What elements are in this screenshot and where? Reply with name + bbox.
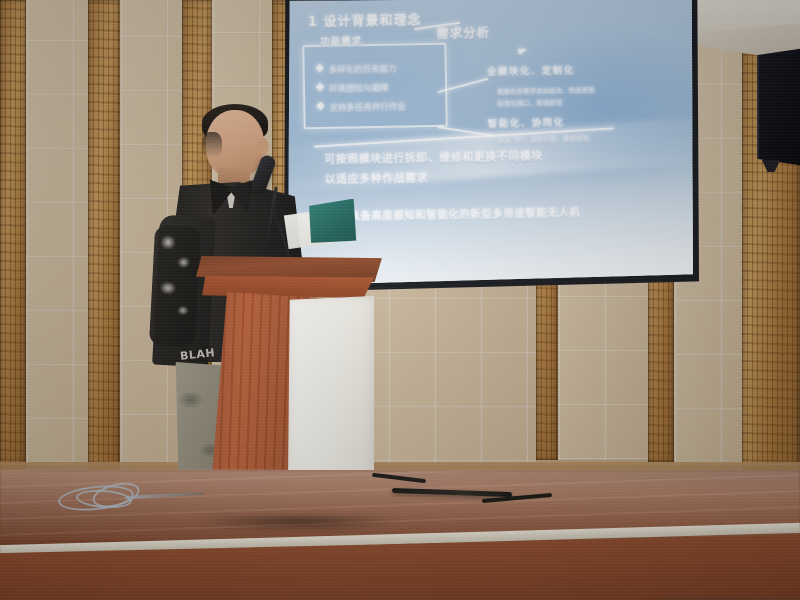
slide-light-streak bbox=[288, 115, 693, 194]
slide-caption-bottom: 具备高度感知和智能化的新型多用途智能无人机 bbox=[349, 204, 580, 223]
slide-bullet-3: 支持多任务并行作业 bbox=[329, 100, 406, 113]
slide-connector-line-b bbox=[438, 126, 494, 136]
slide-bullet-1: 多样化的任务能力 bbox=[329, 63, 397, 76]
presenter-sleeve-pattern bbox=[149, 225, 201, 347]
wall-tile-panel-1 bbox=[26, 0, 88, 474]
slide-title: 1 设计背景和理念 bbox=[308, 9, 422, 30]
slide-right-line-1b: 标准化接口、即插即用 bbox=[497, 97, 562, 108]
slide-bullet-marker-2 bbox=[316, 83, 324, 91]
slide-background bbox=[288, 0, 693, 287]
slide-right-heading-1: 全模块化、定制化 bbox=[487, 63, 575, 79]
slide-connector-line-c bbox=[414, 22, 460, 30]
slide-caption-line-2: 以适应多种作战需求 bbox=[324, 169, 428, 187]
slide-right-heading-2: 智能化、协同化 bbox=[488, 115, 565, 130]
slide-subheading: 功能需求 bbox=[320, 33, 362, 48]
wall-wood-slat-2 bbox=[88, 0, 120, 472]
slide-divider-line bbox=[314, 127, 614, 147]
photo-scene: 1 设计背景和理念 需求分析 功能需求 多样化的任务能力 环境感知与避障 支持多… bbox=[0, 0, 800, 600]
slide-right-line-1a: 根据任务需求自由组合、快速更换 bbox=[497, 84, 595, 96]
slide-bullet-2: 环境感知与避障 bbox=[329, 82, 389, 95]
slide-right-line-2a: 自主飞行、目标识别、路径规划 bbox=[498, 132, 589, 144]
podium-front-plate: 1952 ▪ ▪ ▪ ▪ bbox=[288, 296, 374, 484]
slide-caption-line-1: 可按照模块进行拆卸、维修和更换不同模块 bbox=[324, 147, 543, 167]
projection-screen: 1 设计背景和理念 需求分析 功能需求 多样化的任务能力 环境感知与避障 支持多… bbox=[288, 0, 693, 287]
slide-bullet-marker-1 bbox=[315, 64, 323, 72]
teal-folder bbox=[307, 199, 358, 246]
presenter-ear bbox=[258, 138, 269, 155]
airplane-icon bbox=[518, 46, 528, 55]
slide-title-right: 需求分析 bbox=[436, 22, 490, 42]
slide-connector-line-a bbox=[438, 78, 489, 93]
wall-speaker-icon bbox=[757, 48, 800, 166]
wall-wood-slat-1 bbox=[0, 0, 26, 478]
presenter-hair-fade bbox=[202, 132, 222, 158]
podium-shadow bbox=[196, 516, 402, 532]
slide-card-frame bbox=[302, 43, 447, 130]
